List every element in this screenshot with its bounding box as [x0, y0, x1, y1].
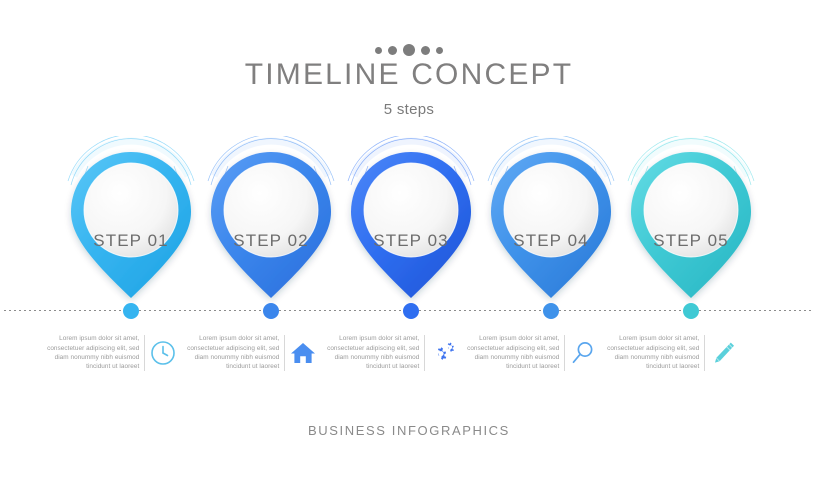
- step-description-5: Lorem ipsum dolor sit amet, consectetuer…: [600, 331, 740, 375]
- step-description-4: Lorem ipsum dolor sit amet, consectetuer…: [460, 331, 600, 375]
- pin-shape: [335, 136, 487, 308]
- step-text: Lorem ipsum dolor sit amet, consectetuer…: [40, 334, 144, 371]
- pin-shape: [615, 136, 767, 308]
- step-pin-2[interactable]: STEP 02: [195, 136, 347, 308]
- page-title: TIMELINE CONCEPT: [0, 58, 818, 92]
- step-text: Lorem ipsum dolor sit amet, consectetuer…: [600, 334, 704, 371]
- pin-shape: [475, 136, 627, 308]
- step-text: Lorem ipsum dolor sit amet, consectetuer…: [460, 334, 564, 371]
- header-dot: [403, 44, 415, 56]
- pencil-icon[interactable]: [705, 340, 740, 366]
- home-icon[interactable]: [285, 341, 320, 365]
- header-dots: [0, 44, 818, 56]
- step-text: Lorem ipsum dolor sit amet, consectetuer…: [180, 334, 284, 371]
- footer-label: BUSINESS INFOGRAPHICS: [0, 423, 818, 438]
- gears-icon[interactable]: [425, 340, 460, 366]
- timeline-node-2[interactable]: [263, 303, 279, 319]
- step-description-2: Lorem ipsum dolor sit amet, consectetuer…: [180, 331, 320, 375]
- clock-icon[interactable]: [145, 340, 180, 366]
- header-dot: [388, 46, 397, 55]
- timeline-node-3[interactable]: [403, 303, 419, 319]
- step-pin-5[interactable]: STEP 05: [615, 136, 767, 308]
- infographic-canvas: TIMELINE CONCEPT 5 steps: [0, 0, 818, 500]
- header-dot: [436, 47, 443, 54]
- pin-shape: [195, 136, 347, 308]
- timeline-node-5[interactable]: [683, 303, 699, 319]
- step-pin-1[interactable]: STEP 01: [55, 136, 207, 308]
- step-pin-3[interactable]: STEP 03: [335, 136, 487, 308]
- header-dot: [375, 47, 382, 54]
- header-dot: [421, 46, 430, 55]
- step-text: Lorem ipsum dolor sit amet, consectetuer…: [320, 334, 424, 371]
- step-description-3: Lorem ipsum dolor sit amet, consectetuer…: [320, 331, 460, 375]
- timeline-node-1[interactable]: [123, 303, 139, 319]
- step-description-1: Lorem ipsum dolor sit amet, consectetuer…: [40, 331, 180, 375]
- pin-shape: [55, 136, 207, 308]
- step-pin-4[interactable]: STEP 04: [475, 136, 627, 308]
- page-subtitle: 5 steps: [0, 101, 818, 118]
- search-icon[interactable]: [565, 340, 600, 366]
- timeline-node-4[interactable]: [543, 303, 559, 319]
